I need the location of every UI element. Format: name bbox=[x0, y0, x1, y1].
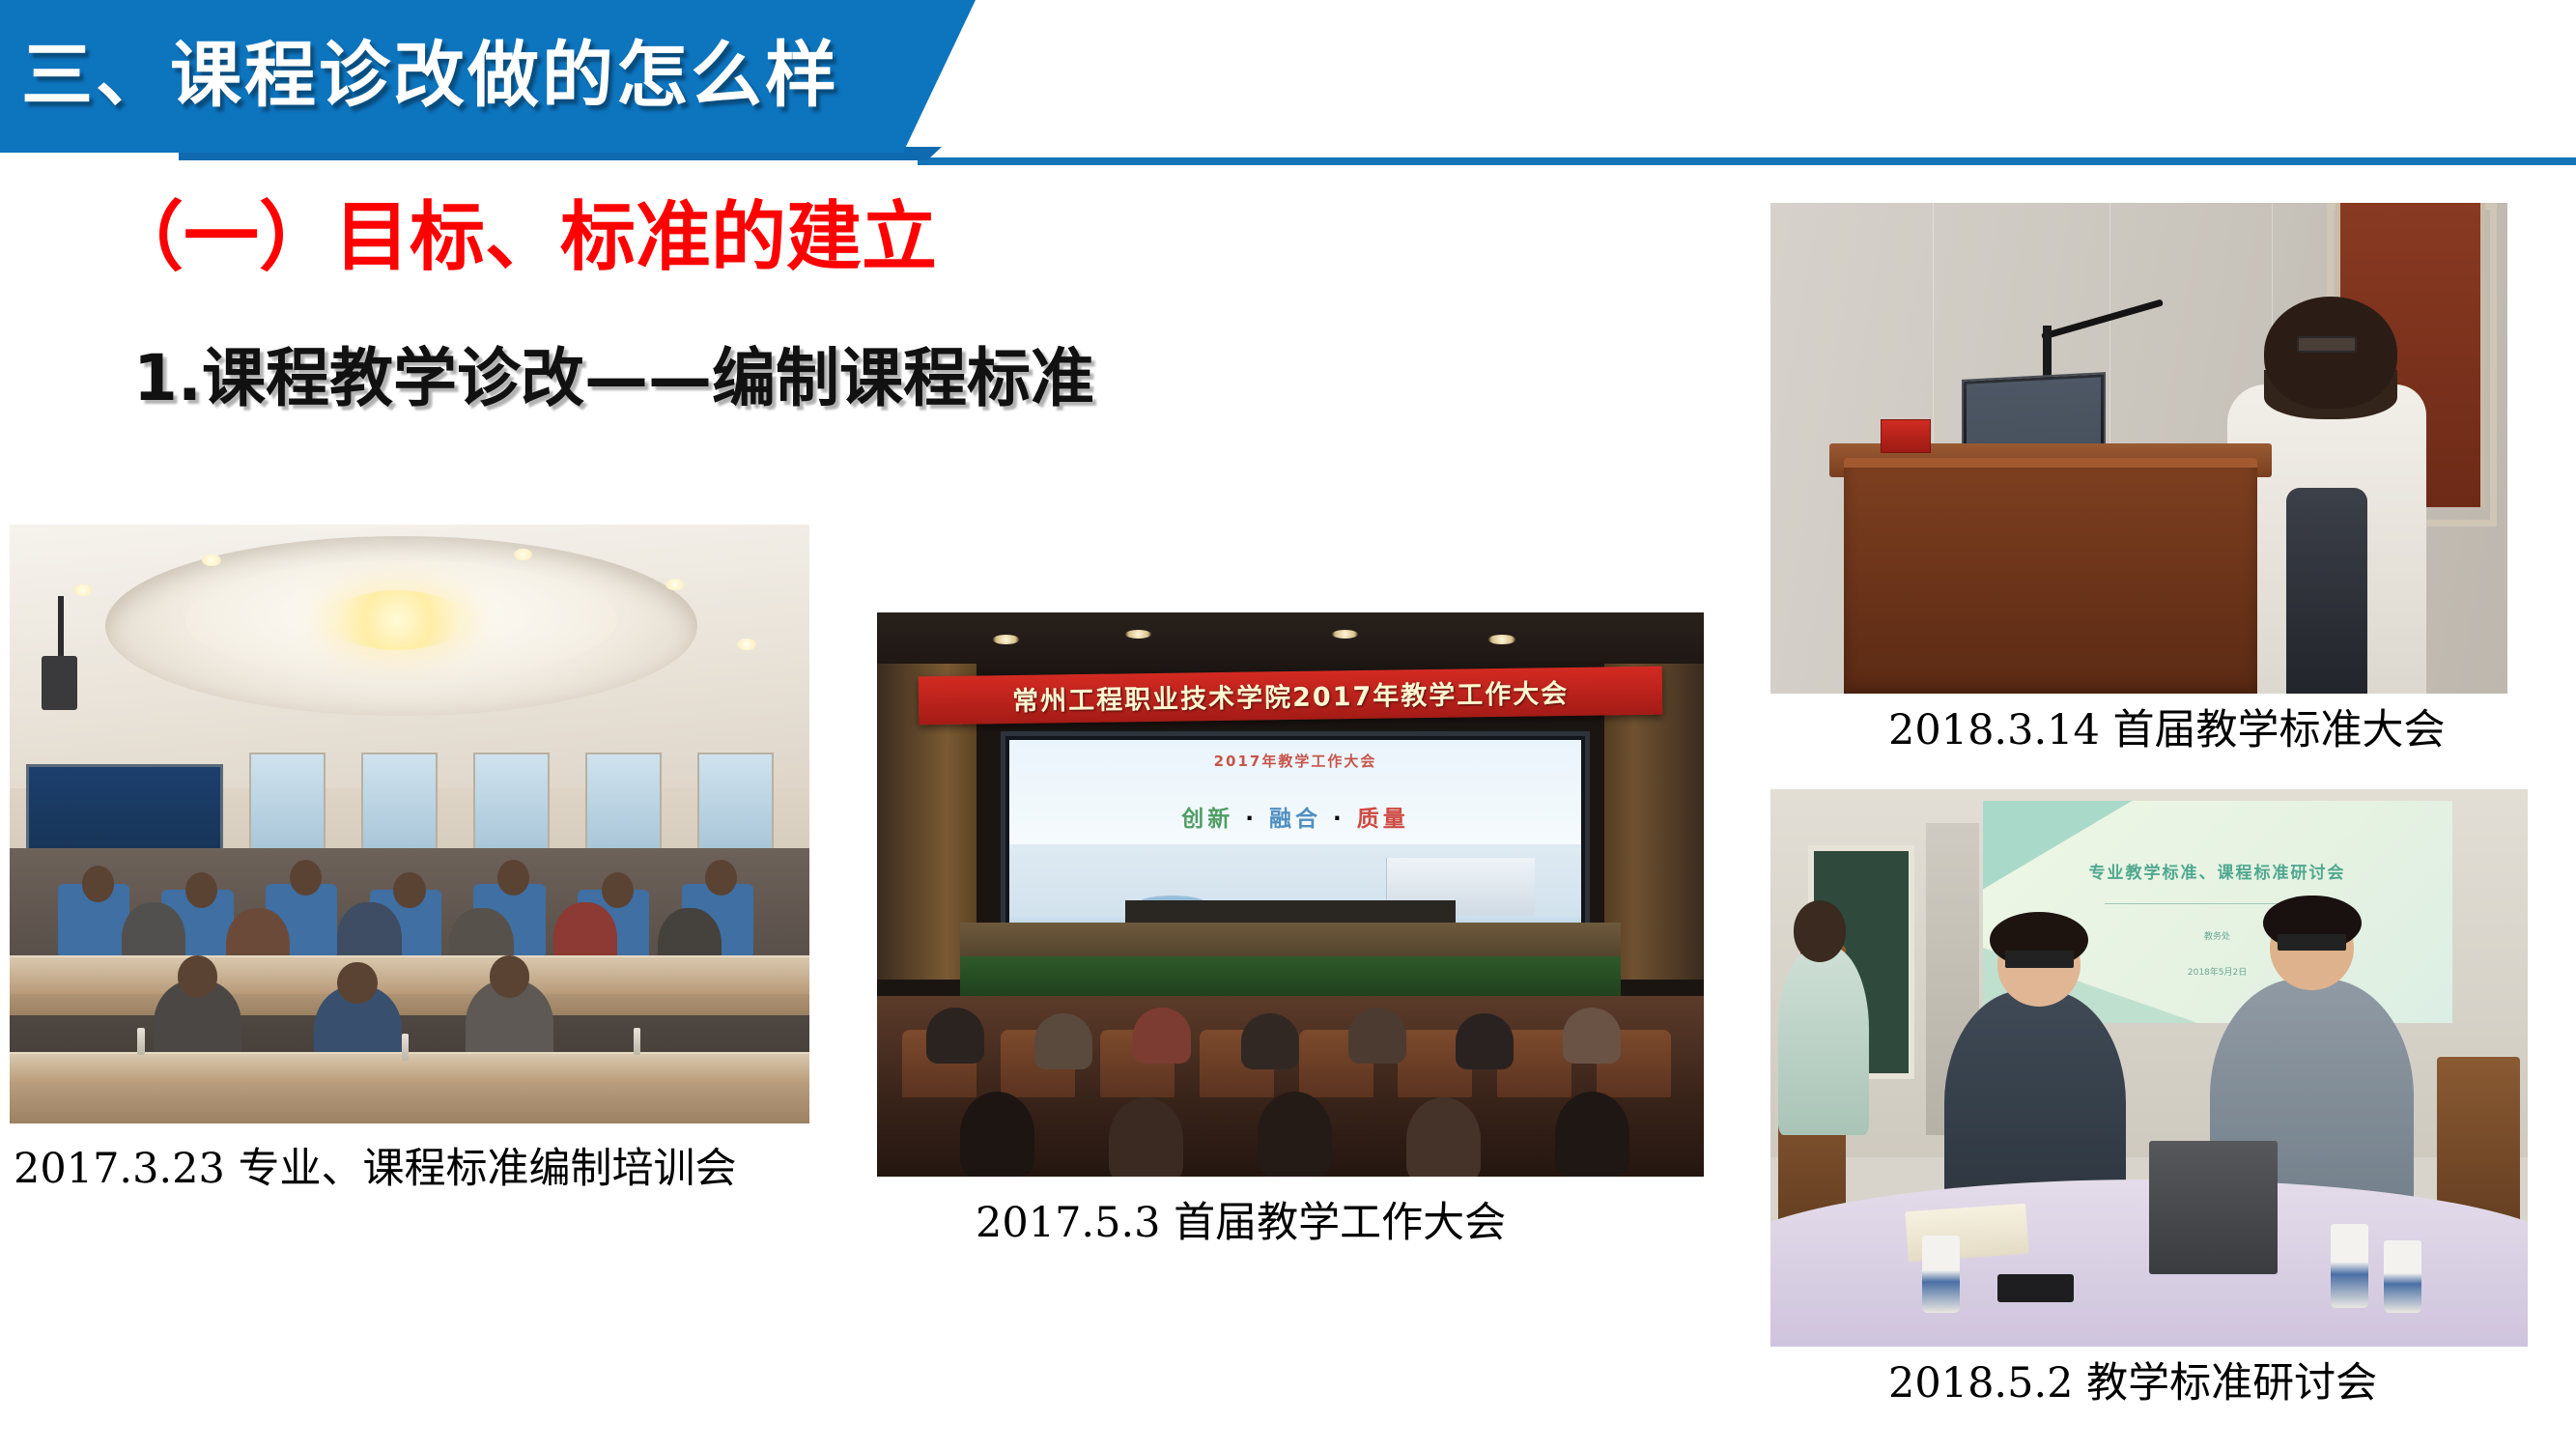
conference-attendee bbox=[1034, 1013, 1092, 1069]
slogan-separator: · bbox=[1245, 807, 1258, 832]
conference-ceiling-light bbox=[1125, 630, 1151, 639]
seminar-attendee-left-standing bbox=[1778, 946, 1869, 1135]
conference-ceiling-light bbox=[1332, 630, 1358, 639]
podium-scene bbox=[1770, 203, 2507, 694]
conference-attendee bbox=[1406, 1097, 1481, 1177]
training-desk-row bbox=[10, 1052, 809, 1084]
slogan-word-innovation: 创新 bbox=[1181, 807, 1233, 832]
training-water-bottle bbox=[402, 1034, 409, 1061]
conference-attendee bbox=[1456, 1013, 1514, 1069]
conference-red-banner: 常州工程职业技术学院2017年教学工作大会 bbox=[918, 667, 1662, 725]
conference-attendee bbox=[1563, 1008, 1621, 1064]
training-attendee-head bbox=[290, 860, 322, 896]
seminar-attendee-glasses bbox=[2005, 951, 2074, 967]
conference-attendee bbox=[1348, 1008, 1406, 1064]
conference-attendee bbox=[1133, 1008, 1191, 1064]
seminar-slide-title: 专业教学标准、课程标准研讨会 bbox=[1983, 859, 2452, 883]
podium-red-nameplate bbox=[1881, 419, 1931, 453]
training-projector bbox=[42, 656, 77, 710]
podium-lectern bbox=[1844, 458, 2256, 694]
training-attendee-head bbox=[337, 962, 377, 1004]
conference-attendee bbox=[1555, 1092, 1629, 1177]
slogan-word-quality: 质量 bbox=[1357, 807, 1409, 832]
conference-attendee bbox=[926, 1008, 984, 1064]
header-divider-rule bbox=[918, 157, 2576, 165]
training-window bbox=[585, 753, 662, 852]
training-attendee-head bbox=[393, 872, 425, 908]
page-title: 三、课程诊改做的怎么样 bbox=[21, 17, 839, 133]
caption-teaching-standard-seminar: 2018.5.2 教学标准研讨会 bbox=[1888, 1356, 2377, 1410]
training-window bbox=[697, 753, 774, 852]
photo-teaching-standard-seminar: 专业教学标准、课程标准研讨会 教务处 2018年5月2日 bbox=[1770, 789, 2528, 1347]
conference-slide-title: 2017年教学工作大会 bbox=[1009, 751, 1580, 771]
training-attendee-head bbox=[490, 955, 529, 997]
conference-scene: 常州工程职业技术学院2017年教学工作大会 2017年教学工作大会 创新 · 融… bbox=[877, 612, 1704, 1177]
training-desk-row bbox=[10, 955, 809, 993]
conference-slide-slogan: 创新 · 融合 · 质量 bbox=[1009, 800, 1580, 833]
training-water-bottle bbox=[634, 1028, 640, 1055]
seminar-water-cup bbox=[2384, 1240, 2421, 1313]
photo-teaching-standard-conference bbox=[1770, 203, 2507, 694]
seminar-phone bbox=[1997, 1274, 2073, 1302]
training-spotlight bbox=[665, 579, 685, 590]
photo-teaching-work-conference: 常州工程职业技术学院2017年教学工作大会 2017年教学工作大会 创新 · 融… bbox=[877, 612, 1704, 1177]
conference-ceiling-light bbox=[1488, 635, 1514, 643]
seminar-water-cup bbox=[2331, 1224, 2368, 1308]
caption-teaching-work-conference: 2017.5.3 首届教学工作大会 bbox=[976, 1196, 1506, 1250]
training-window bbox=[249, 753, 326, 852]
podium-speaker-glasses bbox=[2297, 336, 2356, 353]
photo-training-seminar bbox=[10, 525, 809, 1123]
conference-banner-text: 常州工程职业技术学院2017年教学工作大会 bbox=[1012, 673, 1570, 719]
conference-attendee bbox=[1109, 1097, 1183, 1177]
training-window bbox=[361, 753, 438, 852]
caption-training-seminar: 2017.3.23 专业、课程标准编制培训会 bbox=[14, 1142, 737, 1196]
seminar-attendee-glasses bbox=[2278, 934, 2346, 951]
conference-attendee bbox=[960, 1092, 1034, 1177]
header-banner: 三、课程诊改做的怎么样 bbox=[0, 0, 976, 153]
caption-teaching-standard-conference: 2018.3.14 首届教学标准大会 bbox=[1888, 703, 2446, 757]
sub-section-title: 1.课程教学诊改——编制课程标准 bbox=[133, 336, 1094, 421]
training-attendee-head bbox=[185, 872, 217, 908]
seminar-attendee-head bbox=[1794, 900, 1847, 961]
training-window bbox=[473, 753, 550, 852]
conference-attendee bbox=[1241, 1013, 1299, 1069]
slogan-separator: · bbox=[1333, 807, 1345, 832]
conference-attendee bbox=[1258, 1092, 1332, 1177]
seminar-scene: 专业教学标准、课程标准研讨会 教务处 2018年5月2日 bbox=[1770, 789, 2528, 1347]
conference-ceiling-light bbox=[993, 635, 1019, 643]
podium-speaker-hair bbox=[2264, 297, 2396, 410]
training-scene bbox=[10, 525, 809, 1123]
training-attendee-head bbox=[178, 955, 217, 997]
seminar-laptop bbox=[2149, 1141, 2278, 1274]
podium-speaker-top bbox=[2286, 488, 2367, 694]
training-spotlight bbox=[202, 554, 221, 566]
training-attendee-head bbox=[602, 872, 634, 908]
seminar-water-cup bbox=[1922, 1236, 1960, 1314]
training-water-bottle bbox=[137, 1028, 144, 1055]
training-center-lamp bbox=[329, 590, 466, 650]
slogan-word-integration: 融合 bbox=[1269, 807, 1321, 832]
training-attendee-head bbox=[82, 866, 114, 901]
section-title: （一）目标、标准的建立 bbox=[108, 189, 937, 286]
